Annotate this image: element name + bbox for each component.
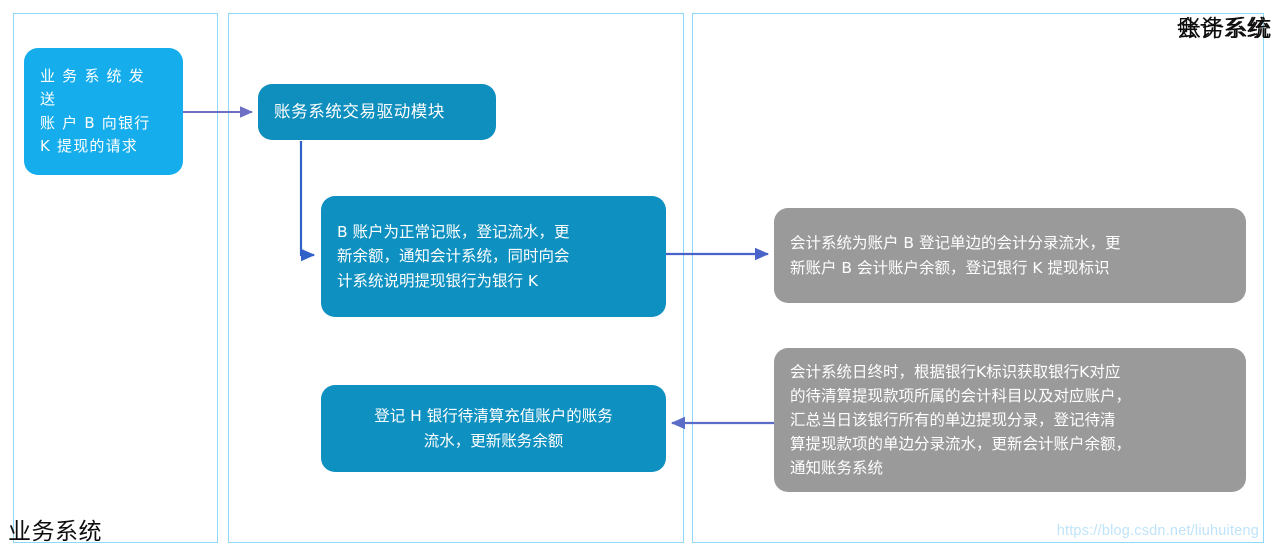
node-label: 业 务 系 统 发 送 账 户 B 向银行 K 提现的请求 <box>24 65 183 158</box>
node-accounting-single-sided-entry[interactable]: 会计系统为账户 B 登记单边的会计分录流水，更 新账户 B 会计账户余额，登记银… <box>774 208 1246 303</box>
node-account-b-normal-bookkeeping[interactable]: B 账户为正常记账，登记流水，更 新余额，通知会计系统，同时向会 计系统说明提现… <box>321 196 666 317</box>
node-register-bank-h-pending-settlement[interactable]: 登记 H 银行待清算充值账户的账务 流水，更新账务余额 <box>321 385 666 472</box>
swimlane-title-accounting-system: 会计系统 <box>1176 9 1270 43</box>
diagram-canvas: 账务系统 会计系统 业务系统 <box>0 0 1277 551</box>
node-label: 会计系统为账户 B 登记单边的会计分录流水，更 新账户 B 会计账户余额，登记银… <box>774 231 1246 279</box>
node-accounting-end-of-day-process[interactable]: 会计系统日终时，根据银行K标识获取银行K对应 的待清算提现款项所属的会计科目以及… <box>774 348 1246 492</box>
node-label: 账务系统交易驱动模块 <box>258 99 496 125</box>
node-label: 登记 H 银行待清算充值账户的账务 流水，更新账务余额 <box>321 404 666 452</box>
node-label: B 账户为正常记账，登记流水，更 新余额，通知会计系统，同时向会 计系统说明提现… <box>321 220 666 292</box>
node-label: 会计系统日终时，根据银行K标识获取银行K对应 的待清算提现款项所属的会计科目以及… <box>774 360 1246 480</box>
node-account-transaction-driver-module[interactable]: 账务系统交易驱动模块 <box>258 84 496 140</box>
node-business-withdraw-request[interactable]: 业 务 系 统 发 送 账 户 B 向银行 K 提现的请求 <box>24 48 183 175</box>
watermark-url: https://blog.csdn.net/liuhuiteng <box>1057 523 1259 539</box>
swimlane-title-business-system: 业务系统 <box>8 512 102 546</box>
